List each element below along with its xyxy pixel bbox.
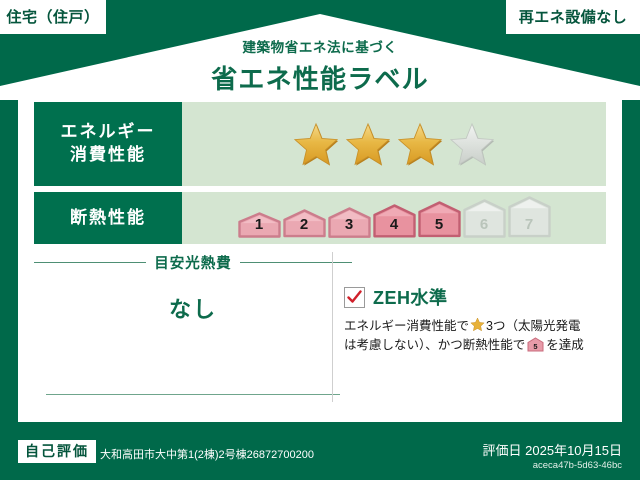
insulation-grade-number: 7 xyxy=(508,216,551,233)
self-evaluation-tag: 自己評価 xyxy=(18,440,96,463)
utility-cost-value: なし xyxy=(34,292,352,324)
insulation-grade-1: 1 xyxy=(238,212,281,238)
self-evaluation-tag-label: 自己評価 xyxy=(25,443,89,459)
insulation-grade-2: 2 xyxy=(283,209,326,238)
insulation-grade-number: 6 xyxy=(463,216,506,233)
insulation-grade-5: 5 xyxy=(418,201,461,237)
insulation-grade-3: 3 xyxy=(328,207,371,238)
evaluation-id: aceca47b-5d63-46bc xyxy=(533,460,622,471)
insulation-grade-6: 6 xyxy=(463,199,506,238)
utility-cost-underline xyxy=(46,394,340,395)
energy-performance-body xyxy=(182,102,606,186)
house-icon: 5 xyxy=(527,337,544,352)
insulation-grade-number: 5 xyxy=(418,216,461,233)
energy-performance-label-line1: エネルギー xyxy=(61,121,156,144)
zeh-title: ZEH水準 xyxy=(373,284,448,310)
insulation-performance-body: 1234567 xyxy=(182,192,606,244)
check-icon xyxy=(347,290,362,305)
insulation-performance-label-text: 断熱性能 xyxy=(70,207,146,230)
zeh-grade-badge: 5 xyxy=(527,337,544,358)
energy-performance-label: 住宅（住戸） 再エネ設備なし 建築物省エネ法に基づく 省エネ性能ラベル エネルギ… xyxy=(0,0,640,480)
energy-performance-label-line2: 消費性能 xyxy=(70,144,146,167)
star-icon-filled xyxy=(397,121,443,167)
building-type-tag-label: 住宅（住戸） xyxy=(6,10,99,25)
star-icon-filled xyxy=(293,121,339,167)
zeh-block: ZEH水準 エネルギー消費性能で3つ（太陽光発電は考慮しない）、かつ断熱性能で5… xyxy=(344,284,606,359)
zeh-desc-part1: エネルギー消費性能で xyxy=(344,319,469,333)
svg-text:5: 5 xyxy=(534,342,538,351)
insulation-grade-number: 3 xyxy=(328,216,371,233)
renewable-equipment-tag-label: 再エネ設備なし xyxy=(519,10,628,25)
evaluation-date: 評価日 2025年10月15日 xyxy=(483,440,622,459)
insulation-grade-7: 7 xyxy=(508,196,551,238)
zeh-desc-part4: を達成 xyxy=(546,338,584,352)
property-address: 大和高田市大中第1(2棟)2号棟26872700200 xyxy=(100,446,314,462)
energy-performance-row: エネルギー 消費性能 xyxy=(34,102,606,186)
insulation-performance-label: 断熱性能 xyxy=(34,192,182,244)
insulation-grade-scale: 1234567 xyxy=(238,196,551,240)
utility-cost-rule-right xyxy=(240,262,352,263)
zeh-desc-part2: 3つ（太陽光発電 xyxy=(486,319,580,333)
zeh-description: エネルギー消費性能で3つ（太陽光発電は考慮しない）、かつ断熱性能で5を達成 xyxy=(344,317,606,359)
lower-panel-divider xyxy=(332,252,333,402)
insulation-grade-number: 4 xyxy=(373,216,416,233)
star-icon xyxy=(470,317,485,332)
building-type-tag: 住宅（住戸） xyxy=(0,0,106,34)
insulation-grade-4: 4 xyxy=(373,204,416,238)
label-footer: 自己評価 大和高田市大中第1(2棟)2号棟26872700200 評価日 202… xyxy=(0,422,640,480)
star-rating xyxy=(293,121,495,167)
star-icon-filled xyxy=(345,121,391,167)
insulation-grade-number: 1 xyxy=(238,216,281,233)
star-icon-empty xyxy=(449,121,495,167)
renewable-equipment-tag: 再エネ設備なし xyxy=(506,0,640,34)
utility-cost-rule-left xyxy=(34,262,146,263)
zeh-title-line: ZEH水準 xyxy=(344,284,606,310)
zeh-checkbox[interactable] xyxy=(344,287,365,308)
energy-performance-label: エネルギー 消費性能 xyxy=(34,102,182,186)
insulation-grade-number: 2 xyxy=(283,216,326,233)
utility-cost-heading: 目安光熱費 xyxy=(34,252,352,273)
utility-cost-heading-text: 目安光熱費 xyxy=(154,252,232,273)
label-card: エネルギー 消費性能 断熱性能 1234567 目安光熱費 なし xyxy=(18,92,622,422)
insulation-performance-row: 断熱性能 1234567 xyxy=(34,192,606,244)
zeh-desc-part3: は考慮しない）、かつ断熱性能で xyxy=(344,338,525,352)
